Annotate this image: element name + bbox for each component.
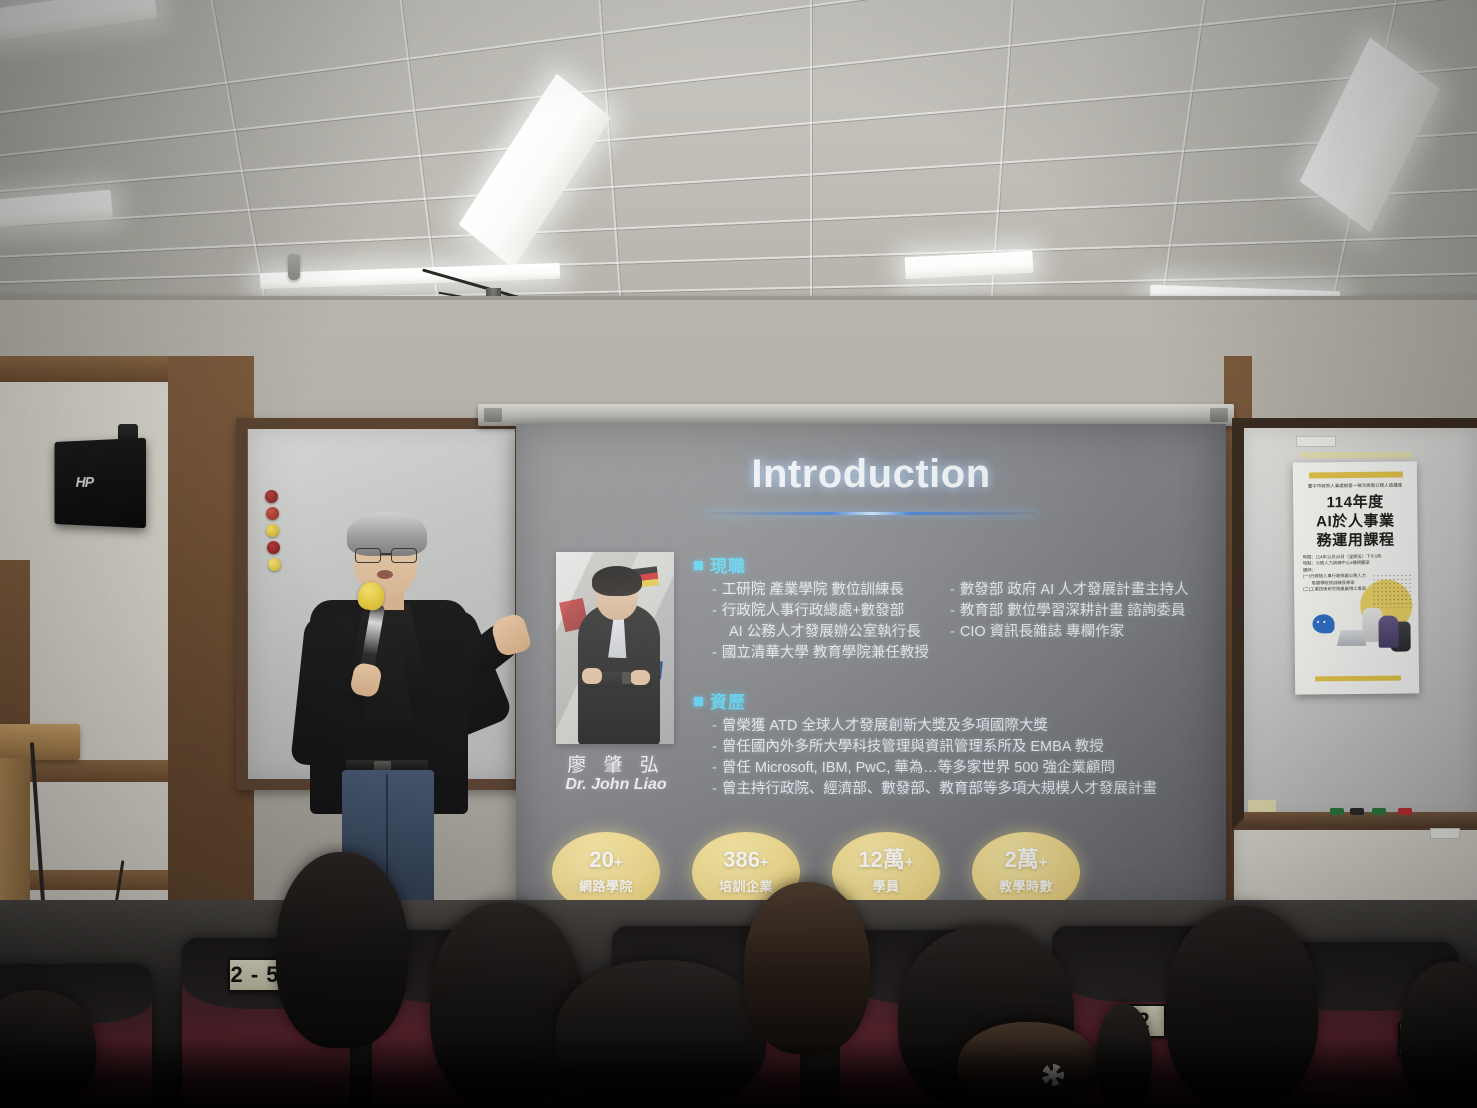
stat-number: 386+ (723, 849, 768, 871)
whiteboard-marker (1350, 808, 1364, 815)
stat-label: 培訓企業 (719, 876, 773, 895)
section-heading-current-positions: 現職 (694, 552, 746, 577)
audience-head (958, 1022, 1098, 1108)
audience-head (1096, 1004, 1152, 1108)
list-item: -國立清華大學 教育學院兼任教授 (712, 643, 929, 664)
poster-dot-pattern (1372, 573, 1412, 607)
magnet (265, 490, 278, 503)
stat-label: 學員 (872, 876, 899, 895)
presenter-mouth (377, 570, 393, 579)
housing-end-cap (1210, 408, 1228, 422)
magnet (267, 541, 280, 554)
stat-number: 20+ (589, 849, 622, 871)
laptop-icon (1337, 630, 1367, 646)
magnet (266, 507, 279, 520)
audience-head (430, 902, 582, 1108)
stat-label: 教學時數 (999, 876, 1053, 895)
list-item: -曾任 Microsoft, IBM, PwC, 華為…等多家世界 500 強企… (712, 758, 1157, 779)
chat-bubble-icon (1312, 614, 1334, 633)
poster-subtitle: 臺中市政府人事處辦第一梯次高階公務人員講座 (1299, 482, 1411, 489)
stat-label: 網路學院 (579, 876, 633, 895)
course-poster: 臺中市政府人事處辦第一梯次高階公務人員講座 114年度 AI於人事業 務運用課程… (1293, 461, 1419, 694)
wristwatch (622, 672, 631, 684)
wall-notice-label (1296, 436, 1336, 447)
poster-accent-bar (1309, 472, 1403, 479)
list-item: -教育部 數位學習深耕計畫 諮詢委員 (950, 601, 1189, 622)
suspended-ceiling (0, 0, 1477, 326)
list-item: -曾主持行政院、經濟部、數發部、教育部等多項大規模人才發展計畫 (712, 779, 1157, 800)
experience-list: -曾榮獲 ATD 全球人才發展創新大獎及多項國際大獎 -曾任國內外多所大學科技管… (712, 716, 1157, 800)
wall-speaker: HP (55, 438, 147, 528)
list-item: -曾任國內外多所大學科技管理與資訊管理系所及 EMBA 教授 (712, 737, 1157, 758)
speaker-headshot (556, 552, 674, 744)
audience-head (276, 852, 408, 1048)
audience-head (556, 960, 766, 1108)
ceiling-light-panel (905, 251, 1034, 280)
tape-strip (1248, 800, 1276, 812)
housing-end-cap (484, 408, 502, 422)
whiteboard-marker (1398, 808, 1412, 815)
audience-head (744, 882, 870, 1054)
lecture-hall-photo: HP Introduction (0, 0, 1477, 1108)
slide-title: Introduction (516, 452, 1226, 497)
whiteboard-marker (1372, 808, 1386, 815)
speaker-name-zh: 廖 肇 弘 (538, 750, 694, 777)
title-divider (706, 512, 1036, 515)
list-item: -曾榮獲 ATD 全球人才發展創新大獎及多項國際大獎 (712, 716, 1157, 737)
hp-logo: HP (76, 474, 93, 491)
audience-head (1400, 962, 1477, 1108)
current-positions-col-1: -工研院 產業學院 數位訓練長 -行政院人事行政總處+數發部 AI 公務人才發展… (712, 580, 929, 664)
whiteboard-marker (1330, 808, 1344, 815)
ceiling-light-panel (0, 190, 113, 231)
list-item: -工研院 產業學院 數位訓練長 (712, 580, 929, 601)
stat-number: 2萬+ (1004, 849, 1047, 871)
poster-title: 114年度 AI於人事業 務運用課程 (1293, 492, 1418, 550)
section-heading-experience: 資歷 (694, 688, 746, 713)
sprinkler-head (288, 254, 300, 280)
speaker-name-en: Dr. John Liao (538, 776, 694, 794)
person-illustration (1378, 616, 1398, 648)
seat-number-tag: 2 - 5 (228, 958, 282, 992)
screen-housing (478, 404, 1234, 426)
list-item: -數發部 政府 AI 人才發展計畫主持人 (950, 580, 1189, 601)
tape-strip (1300, 452, 1412, 458)
wall-notice-label (1430, 828, 1460, 839)
audience-head (1166, 906, 1318, 1108)
square-bullet-icon (694, 697, 703, 706)
eyeglasses (355, 548, 417, 561)
projection-screen: Introduction 廖 肇 弘 Dr. John Liao 現職 -工研院… (516, 424, 1226, 914)
list-item: -CIO 資訊長雜誌 專欄作家 (950, 622, 1189, 643)
stat-number: 12萬+ (858, 849, 913, 871)
magnet (268, 558, 281, 571)
square-bullet-icon (694, 561, 703, 570)
list-item: AI 公務人才發展辦公室執行長 (712, 622, 929, 643)
list-item: -行政院人事行政總處+數發部 (712, 601, 929, 622)
poster-accent-bar (1315, 676, 1401, 682)
ceiling-light-panel (260, 263, 560, 289)
current-positions-col-2: -數發部 政府 AI 人才發展計畫主持人 -教育部 數位學習深耕計畫 諮詢委員 … (950, 580, 1189, 643)
ceiling-light-panel (0, 0, 157, 42)
podium-top (0, 724, 80, 760)
magnet (266, 524, 279, 537)
flower-hairclip (1042, 1064, 1064, 1086)
